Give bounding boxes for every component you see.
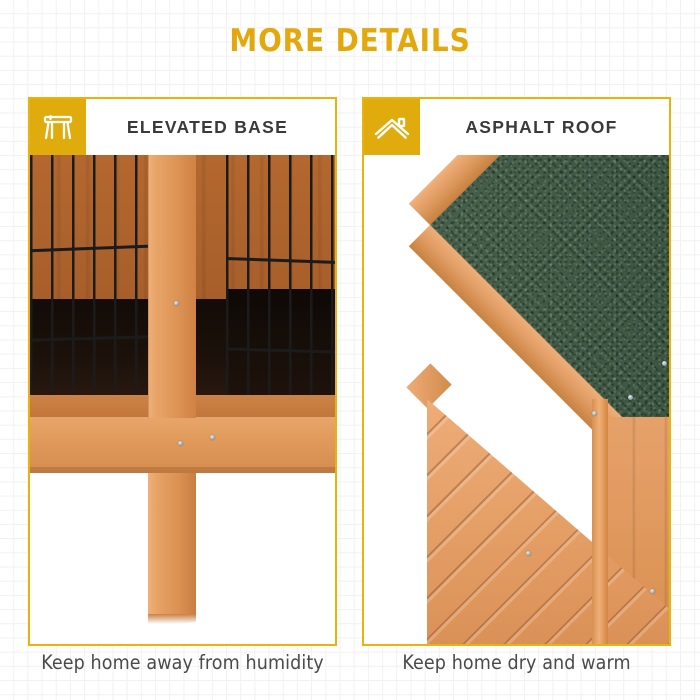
product-photo-elevated-base [30, 99, 335, 644]
hutch-corner-post [592, 399, 608, 644]
screw-icon [174, 301, 179, 306]
feature-label-elevated-base: ELEVATED BASE [86, 99, 335, 155]
screw-icon [210, 435, 215, 440]
roof-scene [364, 99, 669, 644]
feature-card-elevated-base: ELEVATED BASE [28, 97, 337, 646]
product-photo-asphalt-roof [364, 99, 669, 644]
page-title: MORE DETAILS [0, 26, 700, 57]
wire-mesh-panel-right [226, 153, 335, 421]
caption-asphalt-roof: Keep home dry and warm [362, 652, 671, 674]
hutch-front-post [148, 153, 196, 418]
feature-icon-tile[interactable] [30, 99, 86, 155]
screw-icon [650, 589, 655, 594]
card-header-asphalt-roof: ASPHALT ROOF [364, 99, 669, 155]
product-detail-page: MORE DETAILS [0, 0, 700, 700]
table-legs-icon [41, 112, 75, 142]
feature-card-asphalt-roof: ASPHALT ROOF [362, 97, 671, 646]
wire-mesh-panel-left [30, 153, 148, 421]
card-header-elevated-base: ELEVATED BASE [30, 99, 335, 155]
roof-chimney-icon [374, 114, 410, 140]
feature-label-asphalt-roof: ASPHALT ROOF [420, 99, 669, 155]
caption-elevated-base: Keep home away from humidity [28, 652, 337, 674]
screw-icon [178, 441, 183, 446]
screw-icon [662, 361, 667, 366]
hutch-elevated-leg [148, 473, 196, 621]
screw-icon [628, 395, 633, 400]
screw-icon [526, 551, 531, 556]
feature-icon-tile[interactable] [364, 99, 420, 155]
screw-icon [592, 411, 597, 416]
